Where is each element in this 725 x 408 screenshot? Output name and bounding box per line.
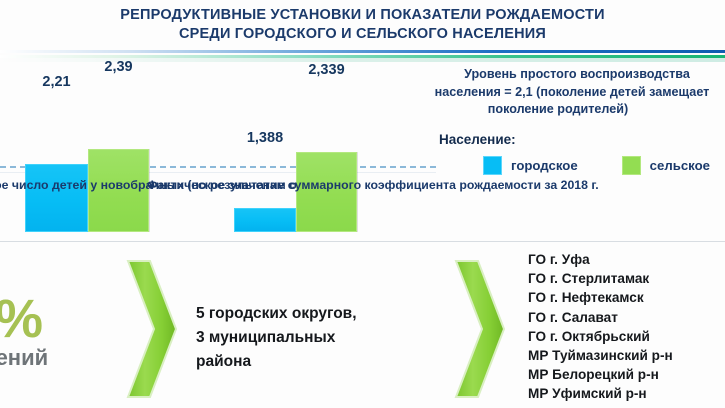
legend-label-rural: сельское bbox=[650, 158, 710, 173]
municipality-list: ГО г. Уфа ГО г. Стерлитамак ГО г. Нефтек… bbox=[528, 250, 725, 404]
page-title-line-1: РЕПРОДУКТИВНЫЕ УСТАНОВКИ И ПОКАЗАТЕЛИ РО… bbox=[0, 6, 725, 25]
list-item: МР Уфимский р-н bbox=[528, 384, 725, 403]
legend-label-urban: городское bbox=[511, 158, 578, 173]
percent-value: 3% bbox=[0, 294, 116, 344]
summary-line-3: района bbox=[196, 350, 446, 374]
summary-line-1: 5 городских округов, bbox=[196, 302, 446, 326]
chart-legend: городское сельское bbox=[483, 156, 710, 175]
bar-group2-label-line-3: рождаемости за 2018 г. bbox=[459, 178, 598, 192]
chevron-arrow-icon-right bbox=[452, 259, 508, 399]
bar-group1-label-line-1: Ожидаемое число детей bbox=[0, 178, 87, 192]
list-item: ГО г. Салават bbox=[528, 308, 725, 327]
info-panel: Уровень простого воспроизводства населен… bbox=[417, 66, 725, 147]
legend-swatch-rural-icon bbox=[622, 156, 641, 175]
legend-item-rural: сельское bbox=[622, 156, 710, 175]
reproduction-note-line-3: поколение родителей) bbox=[379, 101, 725, 119]
percent-caption: ждений bbox=[0, 344, 116, 372]
bar-value-group1-urban: 2,21 bbox=[25, 74, 88, 90]
slide-root: РЕПРОДУКТИВНЫЕ УСТАНОВКИ И ПОКАЗАТЕЛИ РО… bbox=[0, 0, 725, 408]
list-item: МР Туймазинский р-н bbox=[528, 346, 725, 365]
summary-text: 5 городских округов, 3 муниципальных рай… bbox=[196, 302, 446, 374]
list-item: ГО г. Стерлитамак bbox=[528, 269, 725, 288]
bar-value-group2-rural: 2,339 bbox=[296, 62, 357, 78]
legend-item-urban: городское bbox=[483, 156, 578, 175]
page-title: РЕПРОДУКТИВНЫЕ УСТАНОВКИ И ПОКАЗАТЕЛИ РО… bbox=[0, 6, 725, 44]
list-item: МР Белорецкий р-н bbox=[528, 365, 725, 384]
population-heading: Население: bbox=[417, 132, 725, 147]
list-item: ГО г. Октябрьский bbox=[528, 327, 725, 346]
bar-chart: 2,21 2,39 Ожидаемое число детей у новобр… bbox=[0, 62, 436, 232]
reproduction-note-line-2: населения = 2,1 (поколение детей замещае… bbox=[407, 84, 725, 102]
list-item: ГО г. Уфа bbox=[528, 250, 725, 269]
bar-value-group1-rural: 2,39 bbox=[88, 59, 149, 75]
page-title-line-2: СРЕДИ ГОРОДСКОГО И СЕЛЬСКОГО НАСЕЛЕНИЯ bbox=[0, 25, 725, 44]
bottom-section: 3% ждений 5 городских округов, 3 муницип… bbox=[0, 250, 725, 408]
section-divider bbox=[0, 241, 725, 242]
list-item: ГО г. Нефтекамск bbox=[528, 288, 725, 307]
bar-group1-urban bbox=[25, 164, 88, 232]
bar-value-group2-urban: 1,388 bbox=[234, 130, 296, 146]
chevron-arrow-icon-left bbox=[124, 259, 180, 399]
reproduction-note-line-1: Уровень простого воспроизводства bbox=[417, 66, 725, 84]
legend-swatch-urban-icon bbox=[483, 156, 502, 175]
percent-block: 3% ждений bbox=[0, 294, 116, 372]
bar-group2-label-line-2: суммарного коэффициента bbox=[288, 178, 456, 192]
bar-group2-label-line-1: Фактическое значение bbox=[147, 178, 284, 192]
summary-line-2: 3 муниципальных bbox=[196, 326, 446, 350]
bar-group2-urban bbox=[234, 208, 296, 232]
title-divider-blue bbox=[0, 50, 725, 53]
bar-group2-label: Фактическое значение суммарного коэффици… bbox=[147, 178, 447, 194]
